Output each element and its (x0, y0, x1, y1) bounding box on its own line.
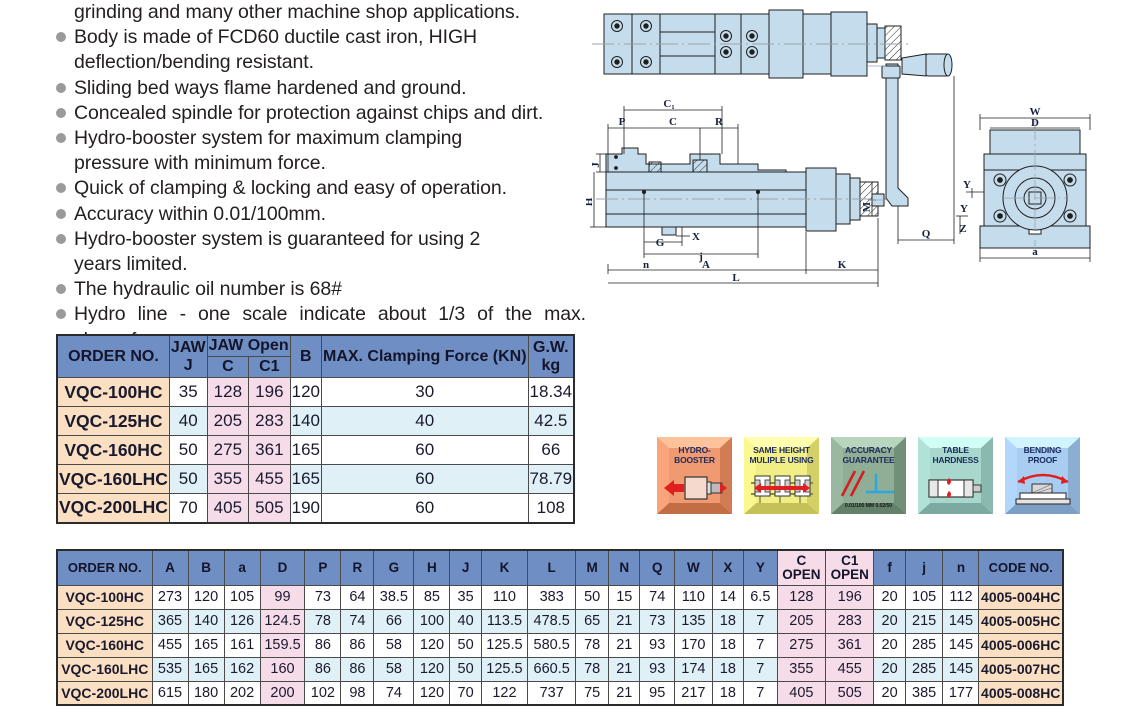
badge-artwork (922, 465, 989, 510)
cell-B: 190 (290, 494, 321, 523)
feature-text: Concealed spindle for protection against… (74, 101, 586, 126)
cell-f: 20 (874, 657, 905, 681)
feature-text: Sliding bed ways flame hardened and grou… (74, 76, 586, 101)
bullet-icon (56, 133, 66, 143)
cell-force: 30 (321, 378, 528, 407)
cell-K: 125.5 (481, 633, 527, 657)
feature-badge-row: HYDRO-BOOSTERSAME HEIGHTMULIPLE USINGACC… (657, 437, 1080, 514)
cell-N: 21 (609, 609, 640, 633)
feature-item: deflection/bending resistant. (56, 50, 586, 75)
table-row: VQC-160LHC53516516216086865812050125.566… (57, 657, 1063, 681)
badge-bending-proof: BENDINGPROOF (1005, 437, 1080, 514)
badge-title-line2: GUARANTEE (842, 456, 894, 466)
dimension-table-wrapper: ORDER NO.ABaDPRGHJKLMNQWXYCOPENC1OPENfjn… (56, 549, 1064, 706)
cell-X: 18 (712, 633, 743, 657)
dim-c: C (669, 116, 677, 128)
cell-C1: 283 (249, 407, 291, 436)
table1-header-row-1: ORDER NO. JAW J JAW Open B MAX. Clamping… (57, 335, 574, 357)
cell-C1: 361 (249, 436, 291, 465)
cell-J: 40 (450, 609, 481, 633)
th-b: B (188, 550, 224, 585)
dim-a-end: a (1032, 246, 1038, 258)
badge-hydro-booster: HYDRO-BOOSTER (657, 437, 732, 514)
cell-P: 73 (305, 585, 341, 609)
cell-M: 78 (576, 657, 609, 681)
cell-f: 20 (874, 609, 905, 633)
th-gw-label: G.W. (530, 339, 573, 357)
cell-X: 18 (712, 657, 743, 681)
feature-item: Concealed spindle for protection against… (56, 101, 586, 126)
cell-C: 405 (207, 494, 249, 523)
cell-J: 70 (450, 681, 481, 705)
cell-C: 128 (207, 378, 249, 407)
table1-body: VQC-100HC351281961203018.34VQC-125HC4020… (57, 378, 574, 523)
bullet-icon (56, 32, 66, 42)
end-view (980, 120, 1090, 252)
feature-item: Hydro line - one scale indicate about 1/… (56, 302, 586, 327)
cell-B: 120 (290, 378, 321, 407)
cell-Q: 93 (640, 657, 675, 681)
cell-J: 35 (169, 378, 207, 407)
cell-order: VQC-100HC (57, 378, 169, 407)
badge-subtext: 0.01/100 MM 0.02/50 (845, 503, 892, 509)
cell-order: VQC-160LHC (57, 657, 152, 681)
th-c1: C1 (249, 357, 291, 378)
clamping-spec-table-wrapper: ORDER NO. JAW J JAW Open B MAX. Clamping… (56, 334, 575, 524)
th-a: a (224, 550, 260, 585)
cell-J: 35 (450, 585, 481, 609)
feature-text: Hydro-booster system is guaranteed for u… (74, 227, 586, 252)
badge-artwork (1009, 465, 1076, 510)
cell-a: 161 (224, 633, 260, 657)
th-j: j (905, 550, 943, 585)
th-order-no: ORDER NO. (57, 550, 152, 585)
feature-item: Quick of clamping & locking and easy of … (56, 176, 586, 201)
table-row: VQC-125HC365140126124.578746610040113.54… (57, 609, 1063, 633)
cell-P: 102 (305, 681, 341, 705)
cell-L: 478.5 (528, 609, 576, 633)
dim-l: L (732, 272, 739, 284)
dim-p: P (619, 116, 626, 128)
cell-order: VQC-100HC (57, 585, 152, 609)
cell-order: VQC-200LHC (57, 494, 169, 523)
badge-artwork (835, 465, 902, 503)
cell-order: VQC-200LHC (57, 681, 152, 705)
cell-f: 20 (874, 681, 905, 705)
cell-order: VQC-160HC (57, 436, 169, 465)
table-row: VQC-160HC455165161159.586865812050125.55… (57, 633, 1063, 657)
cell-B: 165 (188, 633, 224, 657)
th-max-force: MAX. Clamping Force (KN) (321, 335, 528, 378)
cell-Y: 7 (743, 681, 777, 705)
cell-Q: 73 (640, 609, 675, 633)
badge-inner: HYDRO-BOOSTER (661, 441, 728, 510)
th-k: K (481, 550, 527, 585)
table-row: VQC-100HC351281961203018.34 (57, 378, 574, 407)
cell-order: VQC-160HC (57, 633, 152, 657)
cell-c1open: 283 (826, 609, 874, 633)
feature-item: pressure with minimum force. (56, 151, 586, 176)
cell-M: 78 (576, 633, 609, 657)
cell-A: 615 (152, 681, 188, 705)
dim-n: n (643, 259, 649, 271)
th-jaw-label: JAW (171, 339, 206, 357)
cell-G: 66 (374, 609, 414, 633)
bullet-icon (56, 108, 66, 118)
dim-a: A (702, 259, 710, 271)
dim-g: G (656, 237, 665, 249)
bullet-icon (56, 234, 66, 244)
table2-header-row: ORDER NO.ABaDPRGHJKLMNQWXYCOPENC1OPENfjn… (57, 550, 1063, 585)
cell-gw: 42.5 (528, 407, 574, 436)
cell-C1: 505 (249, 494, 291, 523)
badge-inner: BENDINGPROOF (1009, 441, 1076, 510)
cell-B: 165 (290, 465, 321, 494)
cell-C1: 455 (249, 465, 291, 494)
cell-G: 74 (374, 681, 414, 705)
cell-n: 145 (943, 609, 979, 633)
product-spec-page: grinding and many other machine shop app… (0, 0, 1121, 722)
feature-item: Hydro-booster system is guaranteed for u… (56, 227, 586, 252)
cell-G: 38.5 (374, 585, 414, 609)
cell-B: 165 (188, 657, 224, 681)
badge-title: HYDRO-BOOSTER (674, 446, 715, 465)
cell-N: 21 (609, 681, 640, 705)
cell-G: 58 (374, 633, 414, 657)
th-gw: G.W. kg (528, 335, 574, 378)
cell-c1open: 505 (826, 681, 874, 705)
cell-gw: 78.79 (528, 465, 574, 494)
bullet-icon (56, 309, 66, 319)
feature-text: years limited. (74, 252, 586, 277)
cell-L: 737 (528, 681, 576, 705)
bullet-icon (56, 7, 66, 17)
badge-title-line2: HARDNESS (932, 456, 978, 466)
cell-W: 174 (675, 657, 713, 681)
cell-code: 4005-005HC (979, 609, 1063, 633)
cell-C1: 196 (249, 378, 291, 407)
th-jaw-j: JAW J (169, 335, 207, 378)
cell-D: 99 (260, 585, 305, 609)
cell-a: 162 (224, 657, 260, 681)
th-p: P (305, 550, 341, 585)
feature-item: Accuracy within 0.01/100mm. (56, 202, 586, 227)
cell-L: 383 (528, 585, 576, 609)
cell-a: 105 (224, 585, 260, 609)
handle-view (868, 54, 952, 206)
cell-order: VQC-125HC (57, 407, 169, 436)
feature-text: Body is made of FCD60 ductile cast iron,… (74, 25, 586, 50)
cell-gw: 108 (528, 494, 574, 523)
dim-z: Z (959, 223, 966, 235)
cell-A: 273 (152, 585, 188, 609)
cell-force: 60 (321, 436, 528, 465)
cell-code: 4005-008HC (979, 681, 1063, 705)
badge-title: SAME HEIGHTMULIPLE USING (750, 446, 814, 465)
th-a: A (152, 550, 188, 585)
dim-h: H (586, 197, 595, 206)
cell-Y: 7 (743, 609, 777, 633)
cell-D: 124.5 (260, 609, 305, 633)
cell-copen: 205 (777, 609, 825, 633)
cell-code: 4005-006HC (979, 633, 1063, 657)
dim-y-handle: Y (960, 203, 968, 215)
dim-m: M (861, 201, 873, 212)
table-row: VQC-125HC402052831404042.5 (57, 407, 574, 436)
feature-text: grinding and many other machine shop app… (74, 0, 586, 25)
feature-item: The hydraulic oil number is 68# (56, 277, 586, 302)
th-h: H (414, 550, 450, 585)
feature-text: deflection/bending resistant. (74, 50, 586, 75)
cell-W: 135 (675, 609, 713, 633)
cell-W: 217 (675, 681, 713, 705)
table-row: VQC-200LHC7040550519060108 (57, 494, 574, 523)
dim-j: J (590, 162, 602, 168)
feature-text: Accuracy within 0.01/100mm. (74, 202, 586, 227)
th-order-no: ORDER NO. (57, 335, 169, 378)
bullet-icon (56, 183, 66, 193)
badge-inner: ACCURACYGUARANTEE0.01/100 MM 0.02/50 (835, 441, 902, 510)
table1-head: ORDER NO. JAW J JAW Open B MAX. Clamping… (57, 335, 574, 378)
cell-B: 140 (188, 609, 224, 633)
badge-title-line2: BOOSTER (674, 456, 715, 466)
th-m: M (576, 550, 609, 585)
th-r: R (341, 550, 374, 585)
cell-j: 285 (905, 633, 943, 657)
dimension-table: ORDER NO.ABaDPRGHJKLMNQWXYCOPENC1OPENfjn… (56, 549, 1064, 706)
bullet-icon (56, 57, 66, 67)
cell-B: 140 (290, 407, 321, 436)
cell-c1open: 361 (826, 633, 874, 657)
cell-code: 4005-007HC (979, 657, 1063, 681)
clamping-spec-table: ORDER NO. JAW J JAW Open B MAX. Clamping… (56, 334, 575, 524)
cell-J: 50 (450, 657, 481, 681)
cell-C: 205 (207, 407, 249, 436)
cell-H: 120 (414, 633, 450, 657)
th-n: n (943, 550, 979, 585)
badge-inner: SAME HEIGHTMULIPLE USING (748, 441, 815, 510)
dim-d: D (1031, 117, 1039, 129)
cell-R: 64 (341, 585, 374, 609)
th-open-line2: OPEN (779, 568, 824, 582)
cell-J: 50 (450, 633, 481, 657)
cell-A: 535 (152, 657, 188, 681)
cell-K: 125.5 (481, 657, 527, 681)
cell-H: 120 (414, 657, 450, 681)
cell-code: 4005-004HC (979, 585, 1063, 609)
th-jaw-j-label: J (171, 357, 206, 375)
badge-inner: TABLEHARDNESS (922, 441, 989, 510)
cell-L: 580.5 (528, 633, 576, 657)
th-jaw-open: JAW Open (207, 335, 290, 357)
cell-A: 365 (152, 609, 188, 633)
cell-Q: 74 (640, 585, 675, 609)
cell-P: 78 (305, 609, 341, 633)
th-c: C (207, 357, 249, 378)
th-y: Y (743, 550, 777, 585)
cell-copen: 355 (777, 657, 825, 681)
table2-body: VQC-100HC27312010599736438.5853511038350… (57, 585, 1063, 705)
th-open-line1: C1 (827, 554, 872, 568)
badge-title: ACCURACYGUARANTEE (842, 446, 894, 465)
cell-X: 18 (712, 609, 743, 633)
th-n: N (609, 550, 640, 585)
dim-y-end: Y (963, 179, 971, 191)
cell-M: 75 (576, 681, 609, 705)
cell-H: 85 (414, 585, 450, 609)
badge-artwork (661, 465, 728, 510)
cell-D: 159.5 (260, 633, 305, 657)
cell-f: 20 (874, 585, 905, 609)
bullet-icon (56, 83, 66, 93)
cell-copen: 405 (777, 681, 825, 705)
cell-n: 145 (943, 633, 979, 657)
cell-H: 100 (414, 609, 450, 633)
cell-X: 18 (712, 681, 743, 705)
cell-B: 165 (290, 436, 321, 465)
cell-A: 455 (152, 633, 188, 657)
badge-same-height: SAME HEIGHTMULIPLE USING (744, 437, 819, 514)
table-row: VQC-200LHC615180202200102987412070122737… (57, 681, 1063, 705)
feature-text: Hydro-booster system for maximum clampin… (74, 126, 586, 151)
cell-j: 285 (905, 657, 943, 681)
cell-J: 50 (169, 465, 207, 494)
feature-text: pressure with minimum force. (74, 151, 586, 176)
dim-x: X (692, 231, 700, 243)
feature-item: Sliding bed ways flame hardened and grou… (56, 76, 586, 101)
badge-artwork (748, 465, 815, 510)
table2-head: ORDER NO.ABaDPRGHJKLMNQWXYCOPENC1OPENfjn… (57, 550, 1063, 585)
cell-c1open: 196 (826, 585, 874, 609)
feature-list: grinding and many other machine shop app… (56, 0, 586, 353)
badge-table-hardness: TABLEHARDNESS (918, 437, 993, 514)
dim-k: K (838, 259, 847, 271)
cell-W: 170 (675, 633, 713, 657)
cell-R: 98 (341, 681, 374, 705)
cell-j: 215 (905, 609, 943, 633)
badge-title-line2: MULIPLE USING (750, 456, 814, 466)
cell-a: 126 (224, 609, 260, 633)
bullet-icon (56, 209, 66, 219)
cell-n: 177 (943, 681, 979, 705)
th-j: J (450, 550, 481, 585)
cell-K: 113.5 (481, 609, 527, 633)
th-open-line1: C (779, 554, 824, 568)
th-c1-open: C1OPEN (826, 550, 874, 585)
feature-text: The hydraulic oil number is 68# (74, 277, 586, 302)
th-g: G (374, 550, 414, 585)
cell-force: 60 (321, 494, 528, 523)
th-gw-unit: kg (530, 357, 573, 375)
cell-J: 50 (169, 436, 207, 465)
cell-j: 385 (905, 681, 943, 705)
cell-R: 86 (341, 633, 374, 657)
cell-C: 355 (207, 465, 249, 494)
badge-title: BENDINGPROOF (1024, 446, 1062, 465)
cell-n: 145 (943, 657, 979, 681)
feature-item: Hydro-booster system for maximum clampin… (56, 126, 586, 151)
th-q: Q (640, 550, 675, 585)
cell-J: 70 (169, 494, 207, 523)
cell-M: 50 (576, 585, 609, 609)
cell-n: 112 (943, 585, 979, 609)
table-row: VQC-100HC27312010599736438.5853511038350… (57, 585, 1063, 609)
bullet-icon (56, 259, 66, 269)
cell-R: 74 (341, 609, 374, 633)
badge-title: TABLEHARDNESS (932, 446, 978, 465)
table-row: VQC-160LHC503554551656078.79 (57, 465, 574, 494)
cell-G: 58 (374, 657, 414, 681)
drawing-svg: C₁ C P R J H B M G X j n A L K (586, 2, 1114, 302)
cell-Y: 7 (743, 657, 777, 681)
side-elevation-view (596, 148, 886, 235)
feature-item: years limited. (56, 252, 586, 277)
cell-M: 65 (576, 609, 609, 633)
th-x: X (712, 550, 743, 585)
th-code-no: CODE NO. (979, 550, 1063, 585)
cell-X: 14 (712, 585, 743, 609)
cell-f: 20 (874, 633, 905, 657)
cell-P: 86 (305, 657, 341, 681)
cell-order: VQC-160LHC (57, 465, 169, 494)
feature-item: grinding and many other machine shop app… (56, 0, 586, 25)
cell-D: 200 (260, 681, 305, 705)
dim-q: Q (922, 228, 931, 240)
cell-K: 110 (481, 585, 527, 609)
cell-D: 160 (260, 657, 305, 681)
cell-force: 40 (321, 407, 528, 436)
th-w: W (675, 550, 713, 585)
dim-c1: C₁ (663, 98, 674, 110)
cell-J: 40 (169, 407, 207, 436)
dim-r: R (715, 116, 724, 128)
cell-Y: 7 (743, 633, 777, 657)
cell-N: 21 (609, 633, 640, 657)
table-row: VQC-160HC502753611656066 (57, 436, 574, 465)
cell-C: 275 (207, 436, 249, 465)
cell-copen: 275 (777, 633, 825, 657)
th-open-line2: OPEN (827, 568, 872, 582)
cell-copen: 128 (777, 585, 825, 609)
badge-accuracy: ACCURACYGUARANTEE0.01/100 MM 0.02/50 (831, 437, 906, 514)
bullet-icon (56, 158, 66, 168)
th-f: f (874, 550, 905, 585)
cell-W: 110 (675, 585, 713, 609)
cell-gw: 18.34 (528, 378, 574, 407)
cell-order: VQC-125HC (57, 609, 152, 633)
cell-j: 105 (905, 585, 943, 609)
badge-title-line2: PROOF (1024, 456, 1062, 466)
cell-Y: 6.5 (743, 585, 777, 609)
bullet-icon (56, 284, 66, 294)
th-b: B (290, 335, 321, 378)
cell-a: 202 (224, 681, 260, 705)
th-c-open: COPEN (777, 550, 825, 585)
th-d: D (260, 550, 305, 585)
top-plan-view (592, 10, 910, 78)
cell-gw: 66 (528, 436, 574, 465)
th-l: L (528, 550, 576, 585)
cell-B: 120 (188, 585, 224, 609)
cell-L: 660.5 (528, 657, 576, 681)
cell-H: 120 (414, 681, 450, 705)
technical-drawings: C₁ C P R J H B M G X j n A L K (586, 2, 1114, 302)
cell-N: 21 (609, 657, 640, 681)
cell-R: 86 (341, 657, 374, 681)
cell-B: 180 (188, 681, 224, 705)
cell-P: 86 (305, 633, 341, 657)
cell-c1open: 455 (826, 657, 874, 681)
